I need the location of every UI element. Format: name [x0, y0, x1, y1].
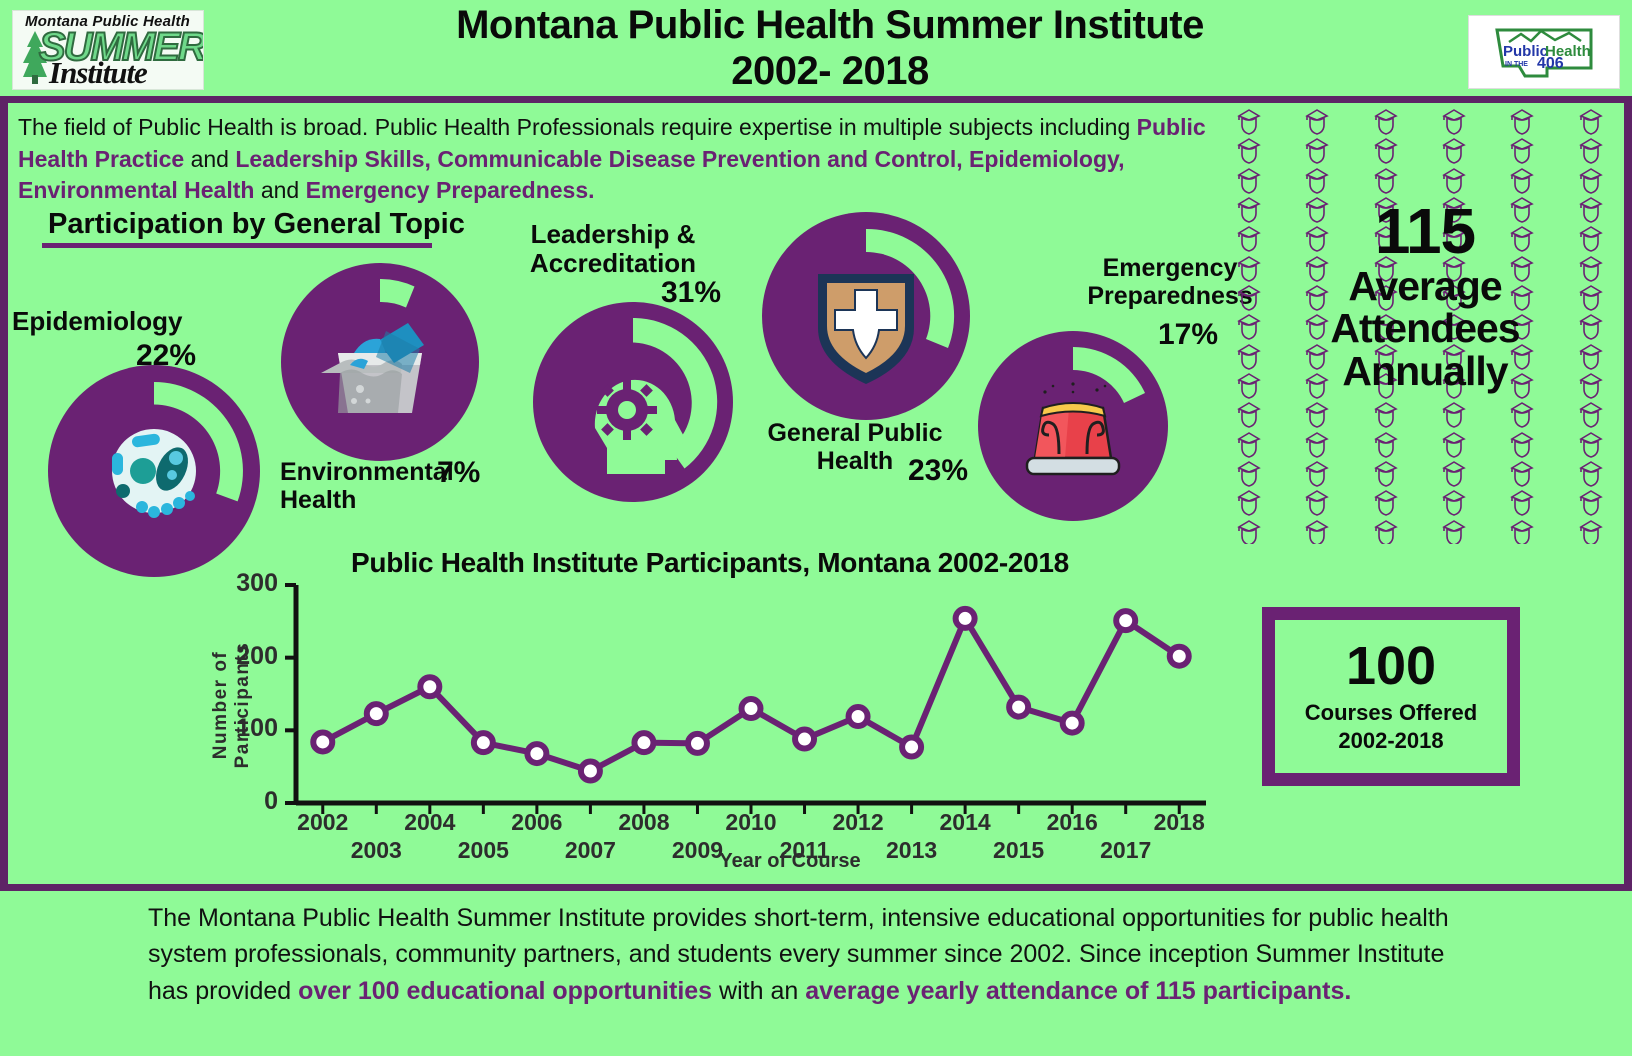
donut-environmental-health-label: Environmental Health: [280, 459, 454, 514]
svg-text:IN THE: IN THE: [1505, 61, 1528, 68]
chart-x-tick-label: 2010: [716, 809, 786, 836]
donut-gph-label-line-2: Health: [817, 447, 893, 475]
person-cap-icon: [1509, 517, 1535, 544]
courses-offered-box: 100 Courses Offered 2002-2018: [1262, 607, 1520, 786]
person-cap-icon: [1304, 399, 1330, 429]
donut-leadership-accreditation-arc: [533, 302, 733, 502]
chart-x-tick-label: 2004: [395, 809, 465, 836]
person-cap-icon: [1304, 429, 1330, 459]
person-cap-icon: [1373, 399, 1399, 429]
person-cap-icon: [1578, 399, 1604, 429]
person-cap-icon: [1578, 429, 1604, 459]
person-cap-icon: [1441, 487, 1467, 517]
participants-line-chart: Public Health Institute Participants, Mo…: [200, 525, 1220, 875]
donut-leadership-accreditation: Leadership & Accreditation 31%: [533, 302, 733, 502]
chart-x-tick-label: 2014: [930, 809, 1000, 836]
average-attendees-line-2: Attendees: [1255, 307, 1595, 350]
donut-ep-label-line-1: Emergency: [1103, 254, 1238, 282]
chart-x-tick-label: 2008: [609, 809, 679, 836]
left-border: [0, 96, 8, 891]
chart-y-tick-label: 0: [222, 787, 278, 816]
intro-paragraph: The field of Public Health is broad. Pub…: [18, 112, 1208, 207]
donut-leadership-accreditation-label: Leadership & Accreditation: [513, 220, 713, 277]
person-cap-icon: [1304, 165, 1330, 195]
average-attendees-line-1: Average: [1255, 265, 1595, 308]
person-cap-icon: [1509, 458, 1535, 488]
person-cap-icon: [1373, 429, 1399, 459]
footer-bold-2: average yearly attendance of 115 partici…: [805, 977, 1351, 1005]
person-cap-icon: [1441, 106, 1467, 136]
person-cap-icon: [1236, 487, 1262, 517]
donut-epidemiology-percent: 22%: [136, 339, 196, 373]
intro-bold-3: Emergency Preparedness.: [306, 177, 595, 203]
person-cap-icon: [1373, 135, 1399, 165]
donut-general-public-health: General Public Health 23%: [762, 212, 970, 420]
person-cap-icon: [1304, 106, 1330, 136]
chart-y-tick-label: 200: [222, 642, 278, 671]
person-cap-icon: [1236, 399, 1262, 429]
person-cap-icon: [1304, 517, 1330, 544]
donut-general-public-health-arc: [762, 212, 970, 420]
person-cap-icon: [1236, 517, 1262, 544]
person-cap-icon: [1236, 165, 1262, 195]
summer-institute-logo: Montana Public Health SUMMER Institute: [12, 10, 204, 90]
intro-seg-1: The field of Public Health is broad. Pub…: [18, 114, 1137, 140]
person-cap-icon: [1441, 399, 1467, 429]
person-cap-icon: [1236, 135, 1262, 165]
donut-environmental-health-label-line-1: Environmental: [280, 458, 454, 486]
person-cap-icon: [1509, 487, 1535, 517]
donut-epidemiology-label: Epidemiology: [12, 307, 182, 336]
average-attendees-line-3: Annually: [1255, 350, 1595, 393]
person-cap-icon: [1304, 487, 1330, 517]
person-cap-icon: [1373, 517, 1399, 544]
chart-y-tick-label: 300: [222, 569, 278, 598]
donut-emergency-preparedness-arc: [978, 331, 1168, 521]
donut-environmental-health: Environmental Health 7%: [281, 263, 479, 461]
person-cap-icon: [1441, 458, 1467, 488]
courses-offered-line-2: 2002-2018: [1338, 727, 1443, 755]
courses-offered-number: 100: [1346, 639, 1436, 693]
donut-environmental-health-arc: [281, 263, 479, 461]
chart-x-tick-label: 2003: [341, 837, 411, 864]
person-cap-icon: [1236, 458, 1262, 488]
page-title-line-1: Montana Public Health Summer Institute: [456, 3, 1204, 47]
donut-leadership-accreditation-percent: 31%: [661, 276, 721, 310]
donut-gph-label-line-1: General Public: [767, 419, 942, 447]
person-cap-icon: [1441, 517, 1467, 544]
chart-x-tick-label: 2006: [502, 809, 572, 836]
page-title-line-2: 2002- 2018: [240, 48, 1420, 94]
person-cap-icon: [1441, 429, 1467, 459]
chart-x-axis-label: Year of Course: [470, 850, 1110, 873]
person-cap-icon: [1236, 429, 1262, 459]
footer-divider: [0, 884, 1632, 891]
person-cap-icon: [1304, 135, 1330, 165]
footer-paragraph: The Montana Public Health Summer Institu…: [148, 900, 1478, 1009]
chart-x-tick-label: 2012: [823, 809, 893, 836]
person-cap-icon: [1578, 517, 1604, 544]
svg-text:406: 406: [1537, 55, 1564, 72]
public-health-406-logo: Public Health IN THE 406: [1468, 15, 1620, 89]
courses-offered-line-1: Courses Offered: [1305, 699, 1477, 727]
average-attendees-number: 115: [1255, 198, 1595, 265]
montana-outline-icon: Public Health IN THE 406: [1469, 16, 1619, 88]
chart-y-tick-label: 100: [222, 714, 278, 743]
person-cap-icon: [1578, 106, 1604, 136]
section-heading-underline: [42, 243, 432, 248]
page-title: Montana Public Health Summer Institute 2…: [240, 2, 1420, 95]
donut-environmental-health-percent: 7%: [437, 456, 480, 490]
person-cap-icon: [1509, 399, 1535, 429]
infographic-page: Montana Public Health SUMMER Institute M…: [0, 0, 1632, 1056]
person-cap-icon: [1304, 458, 1330, 488]
footer-bold-1: over 100 educational opportunities: [298, 977, 712, 1005]
person-cap-icon: [1578, 487, 1604, 517]
person-cap-icon: [1373, 106, 1399, 136]
donut-leadership-label-line-2: Accreditation: [530, 248, 696, 278]
person-cap-icon: [1578, 165, 1604, 195]
person-cap-icon: [1441, 135, 1467, 165]
person-cap-icon: [1236, 106, 1262, 136]
footer-seg-2: with an: [712, 977, 805, 1005]
person-cap-icon: [1373, 487, 1399, 517]
chart-x-tick-label: 2016: [1037, 809, 1107, 836]
header: Montana Public Health SUMMER Institute M…: [0, 0, 1632, 103]
logo-line-3: Institute: [49, 55, 147, 90]
section-heading: Participation by General Topic: [48, 208, 465, 241]
chart-x-tick-label: 2018: [1144, 809, 1214, 836]
intro-seg-2: and: [184, 146, 235, 172]
person-cap-icon: [1578, 458, 1604, 488]
person-cap-icon: [1578, 135, 1604, 165]
donut-general-public-health-percent: 23%: [908, 454, 968, 488]
average-attendees-text: 115 Average Attendees Annually: [1255, 198, 1595, 392]
chart-x-tick-label: 2002: [288, 809, 358, 836]
donut-emergency-preparedness-percent: 17%: [1158, 318, 1218, 352]
person-cap-icon: [1373, 165, 1399, 195]
person-cap-icon: [1509, 165, 1535, 195]
person-cap-icon: [1441, 165, 1467, 195]
person-cap-icon: [1509, 106, 1535, 136]
person-cap-icon: [1509, 135, 1535, 165]
donut-leadership-label-line-1: Leadership &: [531, 219, 696, 249]
chart-title: Public Health Institute Participants, Mo…: [200, 547, 1220, 579]
person-cap-icon: [1373, 458, 1399, 488]
chart-y-axis-label: Number of Participants: [210, 595, 254, 815]
intro-seg-3: and: [254, 177, 305, 203]
donut-environmental-health-label-line-2: Health: [280, 486, 356, 514]
header-divider: [0, 96, 1632, 103]
donut-emergency-preparedness: Emergency Preparedness 17%: [978, 331, 1168, 521]
person-cap-icon: [1509, 429, 1535, 459]
